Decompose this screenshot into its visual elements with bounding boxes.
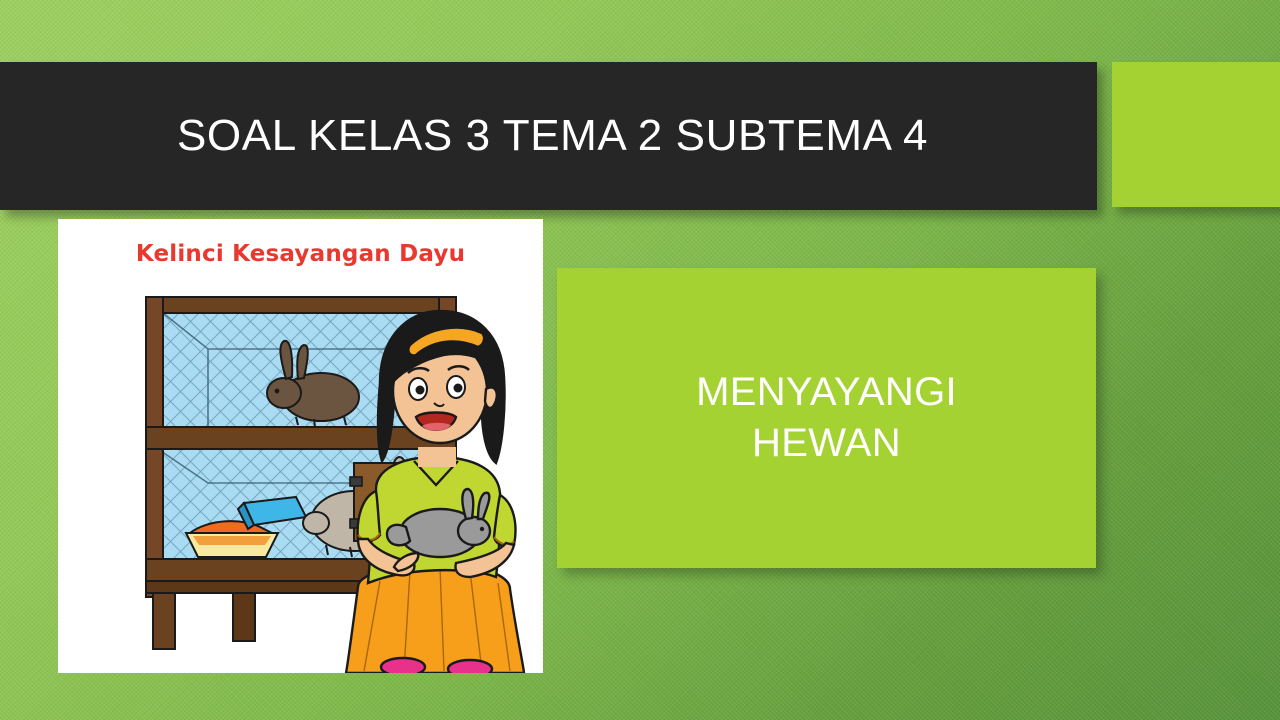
rabbit-hutch-illustration — [58, 271, 543, 673]
picture-caption: Kelinci Kesayangan Dayu — [58, 241, 543, 267]
slide-title: SOAL KELAS 3 TEMA 2 SUBTEMA 4 — [169, 111, 928, 161]
title-bar: SOAL KELAS 3 TEMA 2 SUBTEMA 4 — [0, 62, 1097, 210]
slide-canvas: SOAL KELAS 3 TEMA 2 SUBTEMA 4 MENYAYANGI… — [0, 0, 1280, 720]
accent-block-top-right — [1112, 62, 1280, 207]
picture-panel: Kelinci Kesayangan Dayu — [58, 219, 543, 673]
subtitle-box: MENYAYANGI HEWAN — [557, 268, 1096, 568]
slide-subtitle: MENYAYANGI HEWAN — [696, 367, 957, 469]
